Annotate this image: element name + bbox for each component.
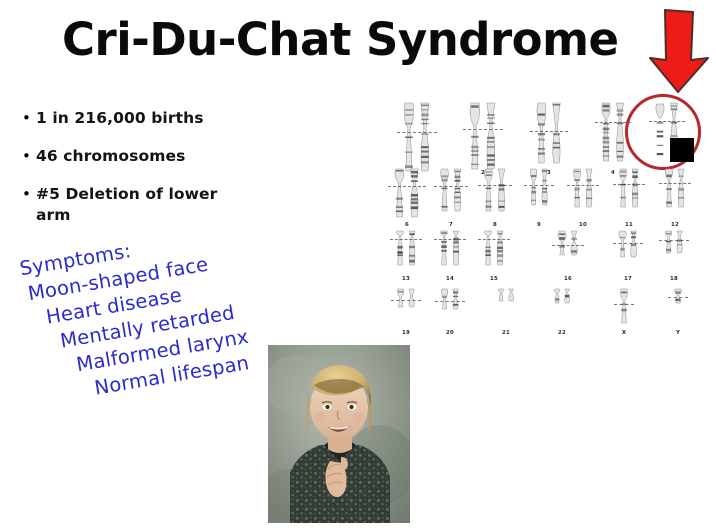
chromosome-glyph: [452, 168, 463, 216]
chromosome-pair-glyph: [557, 226, 579, 276]
chromosome-pair-glyph: [673, 284, 683, 330]
chromosome-glyph: [675, 230, 684, 258]
chromosome-pair-17: 17: [608, 226, 648, 283]
chromosome-pair-20: 20: [430, 284, 470, 337]
symptoms-list: Symptoms:Moon-shaped faceHeart diseaseMe…: [10, 215, 292, 412]
chromosome-pair-19: 19: [386, 284, 426, 337]
chromosome-pair-glyph: [396, 284, 416, 330]
chromosome-glyph: [497, 287, 505, 306]
centromere-guideline: [434, 186, 468, 187]
bullet-text: 1 in 216,000 births: [36, 108, 204, 129]
centromere-guideline: [391, 300, 421, 301]
chromosome-pair-16: 16: [548, 226, 588, 283]
bullet-marker-icon: •: [22, 184, 36, 205]
karyotype-image: 12345678910111213141516171819202122XY: [376, 98, 712, 350]
bullet-text: 46 chromosomes: [36, 146, 185, 167]
chromosome-pair-22: 22: [542, 284, 582, 337]
slide-canvas: Cri-Du-Chat Syndrome • 1 in 216,000 birt…: [0, 0, 716, 530]
chromosome-pair-13: 13: [386, 226, 426, 283]
chromosome-glyph: [630, 168, 640, 212]
chromosome-pair-glyph: [468, 98, 498, 170]
chromosome-glyph: [395, 230, 405, 270]
chromosome-glyph: [439, 230, 449, 270]
chromosome-glyph: [664, 230, 673, 258]
chromosome-pair-18: 18: [654, 226, 694, 283]
chromosome-glyph: [393, 168, 406, 222]
chromosome-pair-X: X: [604, 284, 644, 337]
chromosome-label: 21: [486, 330, 526, 337]
child-portrait-photo: [268, 345, 410, 523]
chromosome-pair-glyph: [440, 284, 460, 330]
chromosome-glyph: [540, 168, 549, 210]
page-title: Cri-Du-Chat Syndrome: [62, 16, 642, 63]
centromere-guideline: [397, 132, 437, 133]
chromosome-glyph: [439, 168, 450, 216]
chromosome-pair-glyph: [483, 164, 507, 222]
centromere-guideline: [524, 185, 554, 186]
chromosome-label: 17: [608, 276, 648, 283]
centromere-guideline: [613, 243, 643, 244]
centromere-guideline: [567, 185, 599, 186]
centromere-guideline: [463, 129, 503, 130]
chromosome-glyph: [553, 288, 561, 308]
centromere-guideline: [390, 239, 422, 240]
centromere-guideline: [435, 301, 465, 302]
centromere-guideline: [552, 245, 584, 246]
chromosome-glyph: [600, 102, 612, 166]
chromosome-label: Y: [658, 330, 698, 337]
chromosome-pair-glyph: [497, 284, 515, 330]
bullet-marker-icon: •: [22, 108, 36, 129]
centromere-guideline: [434, 239, 466, 240]
chromosome-pair-glyph: [529, 164, 549, 222]
chromosome-glyph: [563, 288, 571, 308]
centromere-guideline: [530, 131, 568, 132]
bullet-text: #5 Deletion of lower arm: [36, 184, 251, 226]
chromosome-pair-15: 15: [474, 226, 514, 283]
chromosome-pair-6: 6: [386, 164, 428, 229]
chromosome-glyph: [483, 168, 494, 216]
chromosome-glyph: [618, 230, 627, 262]
chromosome-glyph: [496, 168, 507, 216]
chromosome-pair-glyph: [600, 98, 626, 170]
chromosome-pair-8: 8: [474, 164, 516, 229]
chromosome-glyph: [451, 230, 461, 270]
chromosome-pair-10: 10: [562, 164, 604, 229]
chromosome-label: 18: [654, 276, 694, 283]
chromosome-label: 20: [430, 330, 470, 337]
chromosome-glyph: [550, 102, 563, 168]
centromere-guideline: [659, 183, 691, 184]
chromosome-pair-glyph: [553, 284, 571, 330]
chromosome-pair-glyph: [439, 164, 463, 222]
chromosome-pair-7: 7: [430, 164, 472, 229]
chromosome-label: 15: [474, 276, 514, 283]
chromosome-glyph: [618, 168, 628, 212]
chromosome-label: 22: [542, 330, 582, 337]
chromosome-glyph: [572, 168, 582, 212]
centromere-guideline: [478, 185, 512, 186]
centromere-guideline: [659, 240, 689, 241]
chromosome-label: 13: [386, 276, 426, 283]
red-down-arrow-icon: [648, 8, 710, 94]
chromosome-pair-glyph: [664, 226, 684, 276]
chromosome-pair-glyph: [395, 226, 417, 276]
chromosome-glyph: [408, 168, 421, 222]
chromosome-pair-21: 21: [486, 284, 526, 337]
chromosome-label: X: [604, 330, 644, 337]
list-item: • 46 chromosomes: [22, 146, 292, 167]
chromosome-pair-glyph: [535, 98, 563, 170]
bullet-marker-icon: •: [22, 146, 36, 167]
chromosome-pair-glyph: [572, 164, 594, 222]
centromere-guideline: [614, 304, 634, 305]
deletion-marker-square: [670, 138, 694, 162]
centromere-guideline: [388, 186, 426, 187]
chromosome-glyph: [629, 230, 638, 262]
chromosome-pair-glyph: [402, 98, 432, 170]
centromere-guideline: [668, 297, 688, 298]
chromosome-glyph: [495, 230, 505, 270]
chromosome-label: 14: [430, 276, 470, 283]
chromosome-glyph: [507, 287, 515, 306]
chromosome-glyph: [584, 168, 594, 212]
chromosome-pair-glyph: [619, 284, 629, 330]
chromosome-pair-glyph: [664, 164, 686, 222]
chromosome-glyph: [676, 168, 686, 212]
chromosome-pair-12: 12: [654, 164, 696, 229]
chromosome-pair-glyph: [618, 164, 640, 222]
list-item: • 1 in 216,000 births: [22, 108, 292, 129]
chromosome-glyph: [483, 230, 493, 270]
chromosome-glyph: [529, 168, 538, 210]
chromosome-glyph: [664, 168, 674, 212]
chromosome-pair-9: 9: [518, 164, 560, 229]
chromosome-label: 16: [548, 276, 588, 283]
chromosome-pair-glyph: [483, 226, 505, 276]
centromere-guideline: [613, 184, 645, 185]
chromosome-pair-glyph: [439, 226, 461, 276]
chromosome-glyph: [619, 288, 629, 328]
chromosome-pair-glyph: [618, 226, 638, 276]
chromosome-pair-glyph: [393, 164, 421, 222]
chromosome-glyph: [535, 102, 548, 168]
centromere-guideline: [478, 239, 510, 240]
chromosome-label: 19: [386, 330, 426, 337]
chromosome-pair-Y: Y: [658, 284, 698, 337]
chromosome-pair-14: 14: [430, 226, 470, 283]
chromosome-pair-11: 11: [608, 164, 650, 229]
chromosome-glyph: [407, 230, 417, 270]
